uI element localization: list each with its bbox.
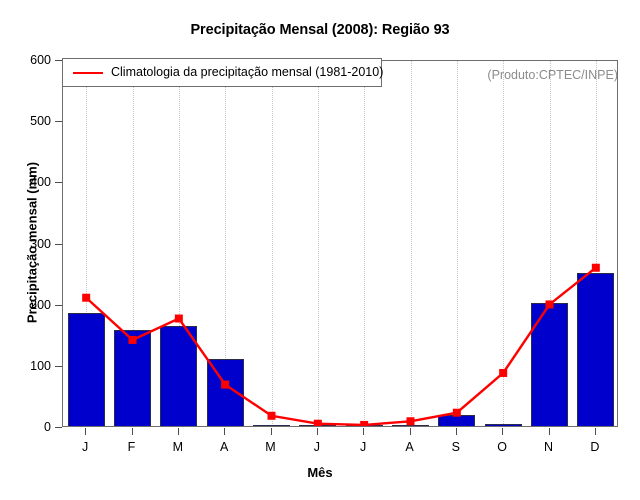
x-tick-label-4: M xyxy=(251,440,291,454)
x-tick-label-7: A xyxy=(390,440,430,454)
x-tick-mark xyxy=(363,428,364,435)
x-tick-label-9: O xyxy=(482,440,522,454)
climatology-point-11 xyxy=(592,264,600,272)
legend: Climatologia da precipitação mensal (198… xyxy=(62,58,382,87)
y-tick-label: 100 xyxy=(0,360,51,372)
x-axis-title: Mês xyxy=(0,465,640,480)
x-tick-mark xyxy=(456,428,457,435)
climatology-point-10 xyxy=(546,300,554,308)
climatology-line-overlay xyxy=(63,61,617,426)
x-tick-mark xyxy=(317,428,318,435)
legend-line-swatch xyxy=(73,72,103,74)
y-tick-mark xyxy=(55,427,62,428)
x-tick-label-2: M xyxy=(158,440,198,454)
y-tick-mark xyxy=(55,305,62,306)
x-tick-mark xyxy=(178,428,179,435)
y-tick-label: 500 xyxy=(0,115,51,127)
y-tick-label: 300 xyxy=(0,238,51,250)
y-tick-mark xyxy=(55,60,62,61)
climatology-point-4 xyxy=(268,412,276,420)
climatology-point-8 xyxy=(453,409,461,417)
climatology-point-7 xyxy=(407,417,415,425)
y-tick-label: 0 xyxy=(0,421,51,433)
x-tick-mark xyxy=(85,428,86,435)
legend-label-climatology: Climatologia da precipitação mensal (198… xyxy=(111,65,383,79)
climatology-point-5 xyxy=(314,420,322,426)
y-tick-label: 600 xyxy=(0,54,51,66)
climatology-line xyxy=(86,268,596,425)
plot-area xyxy=(62,60,618,427)
climatology-point-1 xyxy=(129,336,137,344)
y-tick-mark xyxy=(55,366,62,367)
x-tick-mark xyxy=(410,428,411,435)
y-tick-mark xyxy=(55,121,62,122)
x-tick-label-6: J xyxy=(343,440,383,454)
precipitation-chart: Precipitação Mensal (2008): Região 93 Pr… xyxy=(0,0,640,500)
x-tick-label-0: J xyxy=(65,440,105,454)
x-tick-mark xyxy=(502,428,503,435)
x-tick-mark xyxy=(132,428,133,435)
climatology-point-3 xyxy=(221,381,229,389)
watermark-label: (Produto:CPTEC/INPE) xyxy=(487,68,618,82)
y-tick-mark xyxy=(55,244,62,245)
x-tick-label-8: S xyxy=(436,440,476,454)
x-tick-mark xyxy=(271,428,272,435)
x-tick-label-1: F xyxy=(112,440,152,454)
y-tick-label: 400 xyxy=(0,176,51,188)
x-tick-label-10: N xyxy=(529,440,569,454)
y-tick-mark xyxy=(55,182,62,183)
plot-inner xyxy=(63,61,617,426)
x-tick-label-3: A xyxy=(204,440,244,454)
x-tick-mark xyxy=(549,428,550,435)
x-tick-label-5: J xyxy=(297,440,337,454)
y-tick-label: 200 xyxy=(0,299,51,311)
climatology-point-2 xyxy=(175,315,183,323)
climatology-point-6 xyxy=(360,421,368,426)
x-tick-mark xyxy=(595,428,596,435)
x-tick-label-11: D xyxy=(575,440,615,454)
x-tick-mark xyxy=(224,428,225,435)
climatology-point-0 xyxy=(82,294,90,302)
climatology-point-9 xyxy=(499,369,507,377)
